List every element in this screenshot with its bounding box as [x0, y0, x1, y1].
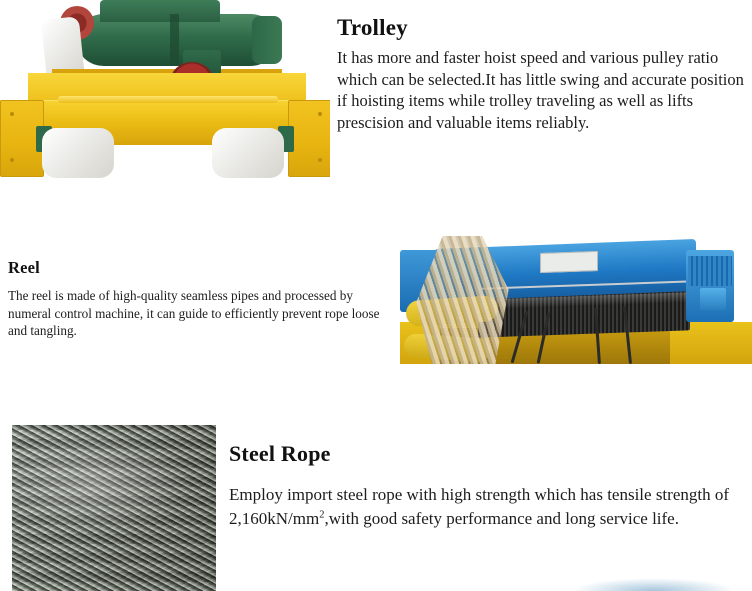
- trolley-body: It has more and faster hoist speed and v…: [337, 47, 752, 133]
- trolley-bolt-shape: [318, 158, 322, 162]
- steel-rope-heading: Steel Rope: [229, 441, 749, 467]
- section-trolley: Trolley It has more and faster hoist spe…: [0, 0, 752, 230]
- trolley-right-endcarriage-shape: [288, 100, 330, 177]
- reel-body: The reel is made of high-quality seamles…: [8, 287, 388, 340]
- section-steel-rope: Steel Rope Employ import steel rope with…: [0, 425, 752, 591]
- steel-rope-body: Employ import steel rope with high stren…: [229, 483, 749, 531]
- trolley-bolt-shape: [10, 158, 14, 162]
- steel-rope-photo: [12, 425, 216, 591]
- reel-terminal-box-shape: [700, 288, 726, 310]
- reel-motor-fins-shape: [688, 256, 732, 286]
- trolley-drum-band-shape: [170, 14, 179, 66]
- next-image-sliver: [540, 576, 730, 591]
- trolley-motor-shape: [100, 0, 220, 22]
- trolley-wrapped-wheel-right-shape: [212, 128, 284, 178]
- trolley-heading: Trolley: [337, 14, 752, 41]
- steel-rope-text-block: Steel Rope Employ import steel rope with…: [229, 441, 749, 531]
- trolley-rail-shape: [58, 96, 278, 103]
- reel-heading: Reel: [8, 258, 388, 278]
- reel-text-block: Reel The reel is made of high-quality se…: [8, 258, 388, 340]
- reel-nameplate-shape: [540, 251, 598, 273]
- reel-photo: [400, 236, 752, 373]
- trolley-drum-cap-shape: [252, 16, 282, 64]
- trolley-wrapped-wheel-left-shape: [42, 128, 114, 178]
- trolley-bolt-shape: [318, 112, 322, 116]
- trolley-photo: [0, 0, 330, 178]
- steel-rope-body-after: ,with good safety performance and long s…: [324, 509, 679, 528]
- trolley-text-block: Trolley It has more and faster hoist spe…: [337, 14, 752, 133]
- steel-rope-highlight: [12, 425, 216, 591]
- section-reel: Reel The reel is made of high-quality se…: [0, 236, 752, 381]
- product-feature-page: Trolley It has more and faster hoist spe…: [0, 0, 752, 591]
- trolley-bolt-shape: [10, 112, 14, 116]
